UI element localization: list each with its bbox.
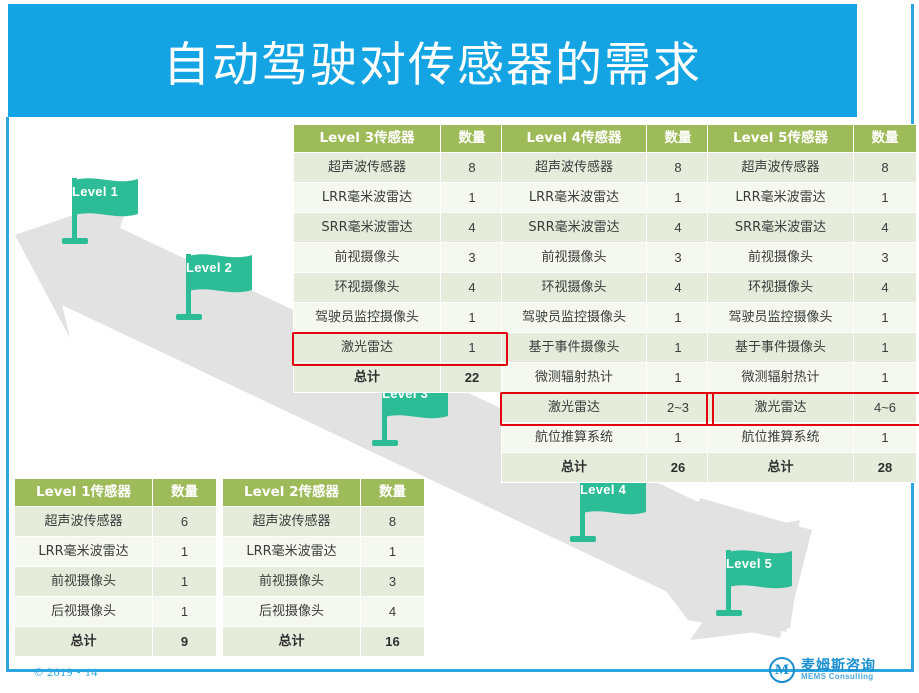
cell-sensor-name: 驾驶员监控摄像头 — [502, 303, 647, 333]
cell-sensor-name: SRR毫米波雷达 — [502, 213, 647, 243]
cell-sensor-quantity: 3 — [441, 243, 504, 273]
table-row: LRR毫米波雷达1 — [708, 183, 917, 213]
cell-total-label: 总计 — [502, 453, 647, 483]
column-header-sensor: Level 5传感器 — [708, 125, 854, 153]
table-row: 基于事件摄像头1 — [502, 333, 710, 363]
flag-label: Level 5 — [726, 556, 772, 571]
page-title: 自动驾驶对传感器的需求 — [8, 4, 857, 117]
cell-total-value: 9 — [153, 627, 217, 657]
table-row: 前视摄像头3 — [294, 243, 504, 273]
table-row: 超声波传感器8 — [502, 153, 710, 183]
cell-sensor-quantity: 3 — [361, 567, 425, 597]
cell-sensor-quantity: 1 — [647, 423, 710, 453]
cell-sensor-quantity: 1 — [153, 597, 217, 627]
table-row: LRR毫米波雷达1 — [502, 183, 710, 213]
cell-sensor-name: 前视摄像头 — [502, 243, 647, 273]
cell-sensor-name: 航位推算系统 — [502, 423, 647, 453]
logo-name-en: MEMS Consulting — [801, 672, 874, 681]
table-row: SRR毫米波雷达4 — [294, 213, 504, 243]
cell-sensor-quantity: 8 — [441, 153, 504, 183]
slide-canvas: 自动驾驶对传感器的需求 Level 1 Level 2 Level 3 Leve… — [0, 0, 919, 693]
title-banner: 自动驾驶对传感器的需求 — [8, 4, 857, 117]
cell-sensor-name: 超声波传感器 — [502, 153, 647, 183]
table-row: 激光雷达2~3 — [502, 393, 710, 423]
cell-sensor-quantity: 8 — [361, 507, 425, 537]
cell-sensor-name: 前视摄像头 — [708, 243, 854, 273]
cell-sensor-quantity: 1 — [647, 303, 710, 333]
cell-sensor-quantity: 1 — [854, 303, 917, 333]
cell-sensor-quantity: 1 — [441, 183, 504, 213]
footer-rule — [16, 669, 34, 672]
logo-mark-icon: M — [769, 657, 795, 683]
cell-sensor-quantity: 4~6 — [854, 393, 917, 423]
table-row: 环视摄像头4 — [708, 273, 917, 303]
cell-total-label: 总计 — [15, 627, 153, 657]
cell-sensor-quantity: 1 — [441, 333, 504, 363]
cell-sensor-name: 激光雷达 — [502, 393, 647, 423]
cell-sensor-name: 航位推算系统 — [708, 423, 854, 453]
table-row: 航位推算系统1 — [708, 423, 917, 453]
table-row-total: 总计26 — [502, 453, 710, 483]
cell-sensor-name: LRR毫米波雷达 — [15, 537, 153, 567]
table-row: 微测辐射热计1 — [502, 363, 710, 393]
sensor-table-level5: Level 5传感器数量超声波传感器8LRR毫米波雷达1SRR毫米波雷达4前视摄… — [707, 124, 917, 483]
cell-total-label: 总计 — [294, 363, 441, 393]
column-header-quantity: 数量 — [854, 125, 917, 153]
cell-total-label: 总计 — [708, 453, 854, 483]
cell-sensor-quantity: 1 — [647, 333, 710, 363]
cell-sensor-quantity: 3 — [647, 243, 710, 273]
cell-sensor-quantity: 8 — [647, 153, 710, 183]
cell-total-value: 16 — [361, 627, 425, 657]
cell-sensor-name: LRR毫米波雷达 — [294, 183, 441, 213]
frame-border-left — [6, 117, 9, 672]
table-row-total: 总计28 — [708, 453, 917, 483]
table-row: 驾驶员监控摄像头1 — [294, 303, 504, 333]
column-header-quantity: 数量 — [361, 479, 425, 507]
cell-sensor-name: 激光雷达 — [294, 333, 441, 363]
cell-sensor-quantity: 1 — [647, 183, 710, 213]
table-row: LRR毫米波雷达1 — [294, 183, 504, 213]
table-row: 环视摄像头4 — [294, 273, 504, 303]
cell-sensor-name: LRR毫米波雷达 — [502, 183, 647, 213]
cell-sensor-quantity: 6 — [153, 507, 217, 537]
cell-sensor-name: 基于事件摄像头 — [708, 333, 854, 363]
cell-sensor-name: 激光雷达 — [708, 393, 854, 423]
table-row: 前视摄像头3 — [502, 243, 710, 273]
cell-sensor-name: 超声波传感器 — [223, 507, 361, 537]
cell-total-label: 总计 — [223, 627, 361, 657]
sensor-table-level2: Level 2传感器数量超声波传感器8LRR毫米波雷达1前视摄像头3后视摄像头4… — [222, 478, 425, 657]
table-row: LRR毫米波雷达1 — [15, 537, 217, 567]
cell-sensor-quantity: 4 — [854, 273, 917, 303]
table-row: 驾驶员监控摄像头1 — [502, 303, 710, 333]
cell-sensor-name: 超声波传感器 — [15, 507, 153, 537]
table-row: SRR毫米波雷达4 — [502, 213, 710, 243]
table-row: 后视摄像头4 — [223, 597, 425, 627]
table-row: 环视摄像头4 — [502, 273, 710, 303]
cell-sensor-name: 前视摄像头 — [223, 567, 361, 597]
cell-sensor-quantity: 1 — [854, 423, 917, 453]
column-header-quantity: 数量 — [441, 125, 504, 153]
cell-sensor-quantity: 1 — [153, 567, 217, 597]
table-row: 前视摄像头3 — [223, 567, 425, 597]
table-row: 超声波传感器8 — [294, 153, 504, 183]
cell-sensor-name: SRR毫米波雷达 — [294, 213, 441, 243]
table-row: 微测辐射热计1 — [708, 363, 917, 393]
cell-sensor-quantity: 3 — [854, 243, 917, 273]
cell-sensor-name: SRR毫米波雷达 — [708, 213, 854, 243]
cell-sensor-quantity: 1 — [441, 303, 504, 333]
column-header-quantity: 数量 — [647, 125, 710, 153]
table-row: 超声波传感器8 — [223, 507, 425, 537]
table-row: 前视摄像头3 — [708, 243, 917, 273]
table-row: 基于事件摄像头1 — [708, 333, 917, 363]
footer-copyright: © 2019 • 14 — [34, 665, 98, 680]
table-row: 后视摄像头1 — [15, 597, 217, 627]
flag-marker-level-5: Level 5 — [706, 544, 802, 624]
cell-sensor-quantity: 4 — [647, 273, 710, 303]
cell-sensor-quantity: 4 — [361, 597, 425, 627]
cell-sensor-name: 驾驶员监控摄像头 — [708, 303, 854, 333]
table-row: 航位推算系统1 — [502, 423, 710, 453]
cell-sensor-quantity: 4 — [647, 213, 710, 243]
cell-sensor-name: 超声波传感器 — [708, 153, 854, 183]
sensor-table-level3: Level 3传感器数量超声波传感器8LRR毫米波雷达1SRR毫米波雷达4前视摄… — [293, 124, 504, 393]
column-header-sensor: Level 3传感器 — [294, 125, 441, 153]
cell-sensor-name: 环视摄像头 — [294, 273, 441, 303]
table-row: 超声波传感器8 — [708, 153, 917, 183]
cell-sensor-quantity: 4 — [441, 213, 504, 243]
cell-sensor-name: 环视摄像头 — [708, 273, 854, 303]
cell-sensor-name: 后视摄像头 — [15, 597, 153, 627]
sensor-table-level1: Level 1传感器数量超声波传感器6LRR毫米波雷达1前视摄像头1后视摄像头1… — [14, 478, 217, 657]
cell-sensor-name: 基于事件摄像头 — [502, 333, 647, 363]
cell-sensor-quantity: 1 — [647, 363, 710, 393]
cell-sensor-name: 环视摄像头 — [502, 273, 647, 303]
table-row: 激光雷达4~6 — [708, 393, 917, 423]
brand-logo: M 麦姆斯咨询 MEMS Consulting — [769, 653, 901, 687]
cell-sensor-quantity: 4 — [854, 213, 917, 243]
flag-label: Level 4 — [580, 482, 626, 497]
flag-label: Level 1 — [72, 184, 118, 199]
cell-sensor-name: 前视摄像头 — [15, 567, 153, 597]
column-header-sensor: Level 1传感器 — [15, 479, 153, 507]
cell-sensor-quantity: 4 — [441, 273, 504, 303]
table-row-total: 总计16 — [223, 627, 425, 657]
cell-total-value: 22 — [441, 363, 504, 393]
table-row: 超声波传感器6 — [15, 507, 217, 537]
column-header-sensor: Level 4传感器 — [502, 125, 647, 153]
cell-sensor-quantity: 1 — [361, 537, 425, 567]
flag-marker-level-2: Level 2 — [166, 248, 262, 328]
cell-sensor-name: 微测辐射热计 — [502, 363, 647, 393]
cell-sensor-quantity: 2~3 — [647, 393, 710, 423]
flag-marker-level-1: Level 1 — [52, 172, 148, 252]
cell-sensor-name: 后视摄像头 — [223, 597, 361, 627]
flag-label: Level 2 — [186, 260, 232, 275]
cell-total-value: 28 — [854, 453, 917, 483]
cell-sensor-name: LRR毫米波雷达 — [708, 183, 854, 213]
cell-sensor-name: 驾驶员监控摄像头 — [294, 303, 441, 333]
cell-sensor-name: 前视摄像头 — [294, 243, 441, 273]
table-row: 驾驶员监控摄像头1 — [708, 303, 917, 333]
table-row-total: 总计9 — [15, 627, 217, 657]
cell-sensor-quantity: 1 — [854, 333, 917, 363]
cell-sensor-quantity: 8 — [854, 153, 917, 183]
cell-sensor-quantity: 1 — [854, 363, 917, 393]
table-row-total: 总计22 — [294, 363, 504, 393]
table-row: SRR毫米波雷达4 — [708, 213, 917, 243]
table-row: LRR毫米波雷达1 — [223, 537, 425, 567]
cell-sensor-quantity: 1 — [153, 537, 217, 567]
cell-sensor-name: LRR毫米波雷达 — [223, 537, 361, 567]
cell-sensor-name: 超声波传感器 — [294, 153, 441, 183]
table-row: 激光雷达1 — [294, 333, 504, 363]
column-header-sensor: Level 2传感器 — [223, 479, 361, 507]
table-row: 前视摄像头1 — [15, 567, 217, 597]
cell-sensor-name: 微测辐射热计 — [708, 363, 854, 393]
sensor-table-level4: Level 4传感器数量超声波传感器8LRR毫米波雷达1SRR毫米波雷达4前视摄… — [501, 124, 710, 483]
column-header-quantity: 数量 — [153, 479, 217, 507]
cell-total-value: 26 — [647, 453, 710, 483]
cell-sensor-quantity: 1 — [854, 183, 917, 213]
